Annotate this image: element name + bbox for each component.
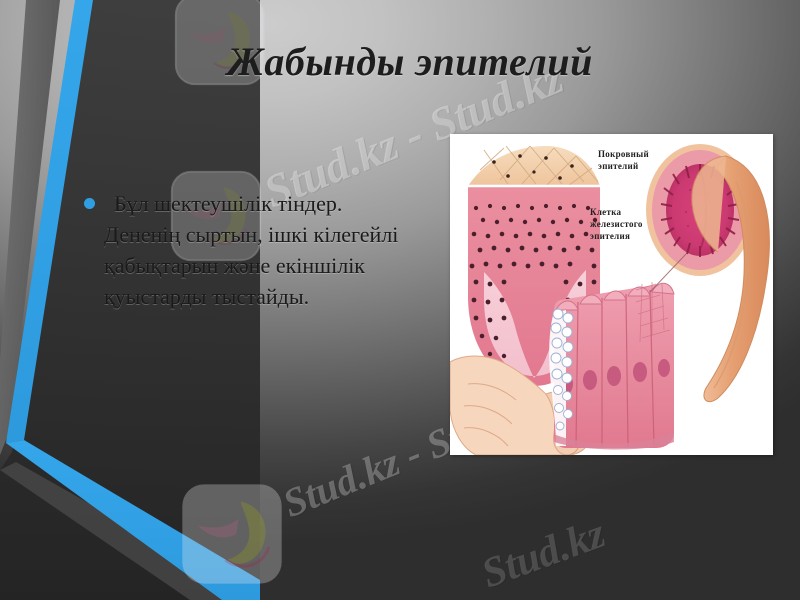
label-glandular-epithelium-cell: Клетка железистого эпителия — [590, 206, 643, 242]
body-bullet-block: Бұл шектеушілік тіндер. Дененің сыртын, … — [84, 188, 414, 312]
epithelium-illustration: Покровный эпителий Клетка железистого эп… — [450, 134, 773, 455]
slide-title: Жабынды эпителий — [60, 38, 760, 85]
body-text: Бұл шектеушілік тіндер. Дененің сыртын, … — [104, 188, 414, 312]
presentation-slide: Stud.kz - Stud.kz Stud.kz - Stud.kz Stud… — [0, 0, 800, 600]
bullet-point-icon — [84, 198, 95, 209]
label-covering-epithelium: Покровный эпителий — [598, 148, 649, 172]
watermark-bottom: Stud.kz — [476, 510, 612, 599]
